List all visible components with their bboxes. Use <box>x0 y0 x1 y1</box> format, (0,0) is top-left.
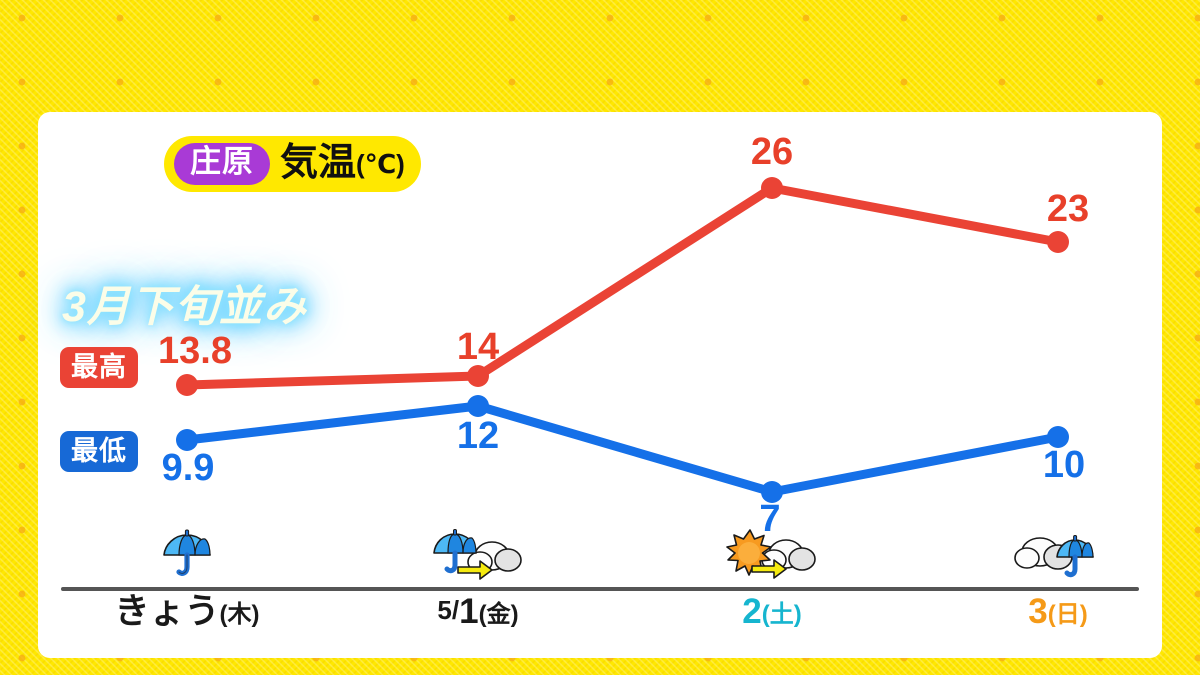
umbrella-icon <box>87 524 287 582</box>
high-value-label-0: 13.8 <box>158 332 232 370</box>
day-sub-3: (日) <box>1048 601 1088 628</box>
day-main-3: 3 <box>1028 592 1047 631</box>
day-column-2[interactable]: 2(土) <box>672 524 872 629</box>
seasonal-comparison-annotation: 3月下旬並み <box>62 272 307 334</box>
day-prefix-1: 5/ <box>437 595 459 625</box>
legend-high-badge: 最高 <box>60 347 138 388</box>
day-main-1: 1 <box>459 592 478 631</box>
day-sub-1: (金) <box>479 601 519 628</box>
umbrella-then-cloud-icon <box>378 524 578 582</box>
day-label-2: 2(土) <box>672 594 872 629</box>
cloud-then-umbrella-icon <box>958 524 1158 582</box>
title-unit-text: (℃) <box>356 149 405 179</box>
day-sub-2: (土) <box>762 601 802 628</box>
chart-title-badge: 庄原 気温(℃) <box>164 136 421 192</box>
day-label-1: 5/1(金) <box>378 594 578 629</box>
high-value-label-3: 23 <box>1047 190 1089 228</box>
day-main-0: きょう <box>115 592 220 631</box>
page-title: 気温(℃) <box>280 144 405 185</box>
day-main-2: 2 <box>742 592 761 631</box>
legend-low-badge: 最低 <box>60 431 138 472</box>
low-value-label-3: 10 <box>1043 446 1085 484</box>
high-value-label-2: 26 <box>751 133 793 171</box>
low-value-label-1: 12 <box>457 417 499 455</box>
low-value-label-0: 9.9 <box>162 449 215 487</box>
day-label-0: きょう(木) <box>87 594 287 629</box>
high-value-label-1: 14 <box>457 328 499 366</box>
day-sub-0: (木) <box>220 601 260 628</box>
title-main-text: 気温 <box>280 142 356 184</box>
day-column-0[interactable]: きょう(木) <box>87 524 287 629</box>
day-column-3[interactable]: 3(日) <box>958 524 1158 629</box>
region-name-pill: 庄原 <box>174 143 270 185</box>
weather-forecast-screen: 庄原 気温(℃) 3月下旬並み 最高 最低 13.8 14 26 23 9.9 … <box>0 0 1200 675</box>
day-label-3: 3(日) <box>958 594 1158 629</box>
day-column-1[interactable]: 5/1(金) <box>378 524 578 629</box>
sun-then-cloud-icon <box>672 524 872 582</box>
